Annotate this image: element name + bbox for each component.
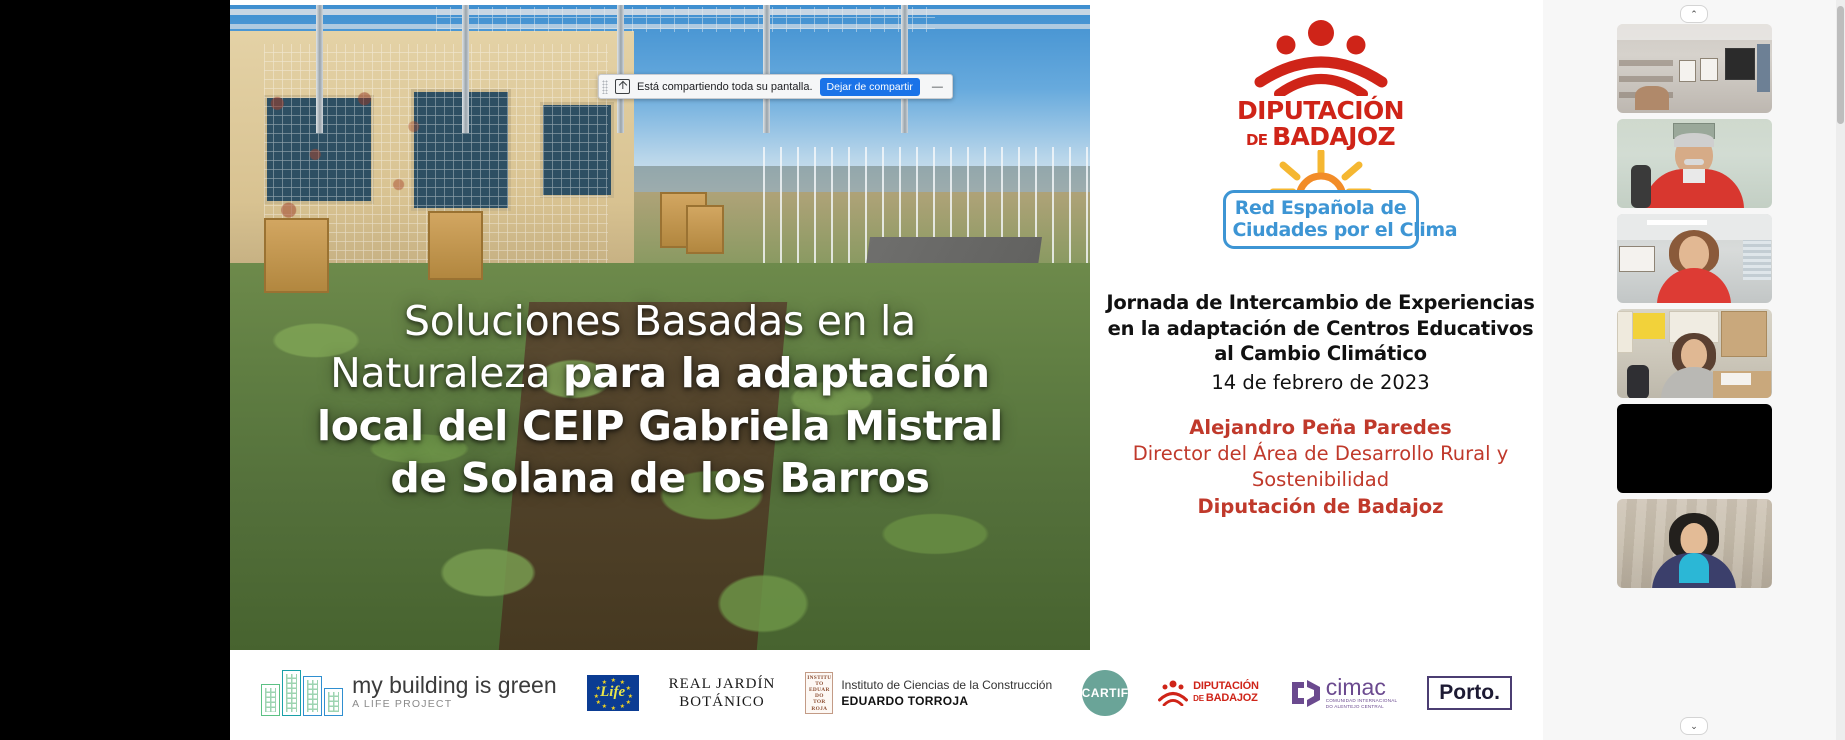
shelf-unit [1617,311,1633,353]
mbig-tagline: A LIFE PROJECT [352,697,557,711]
partial-person [1635,86,1669,110]
building-bar [261,684,280,716]
diputacion-logo-line-1: DIPUTACIÓN [1231,98,1411,123]
mbig-name: my building is green [352,674,557,697]
participant-tile[interactable] [1617,24,1772,113]
logo-cartif: CARTIF [1082,670,1128,716]
life-label: Life [600,684,625,701]
wall-frame [1679,60,1696,82]
diputacion-small-line-1: DIPUTACIÓN [1193,681,1259,692]
shared-screen-frame: Soluciones Basadas en la Naturaleza para… [80,0,1543,740]
rjb-line-1: REAL JARDÍN [669,675,776,693]
wall-frame [1700,58,1718,81]
wall-frame [1619,246,1655,272]
red-ciudades-box: Red Española de Ciudades por el Clima [1223,190,1419,249]
logo-real-jardin-botanico: REAL JARDÍN BOTÁNICO [669,675,776,711]
photo-post [462,5,469,133]
logo-life-eu: ★ ★ ★ ★ ★ ★ ★ ★ ★ ★ ★ ★ Life [587,675,639,711]
turtleneck [1679,553,1709,583]
red-ciudades-line-2: Ciudades por el Clima [1233,219,1409,241]
slide-title: Soluciones Basadas en la Naturaleza para… [252,295,1068,505]
event-heading-line-2: en la adaptación de Centros Educativos [1098,316,1543,342]
ceiling [1617,24,1772,40]
sharing-status-message: Está compartiendo toda su pantalla. [637,81,813,93]
participant-tile[interactable] [1617,119,1772,208]
cabinet [1721,311,1767,357]
slide-title-line-2-bold: para la adaptación [563,349,990,397]
speaker-role-line-2: Sostenibilidad [1098,467,1543,493]
photo-post [316,5,323,133]
chair [1627,365,1649,398]
event-date: 14 de febrero de 2023 [1098,369,1543,396]
wall-poster [1725,48,1755,80]
cimac-mark-icon [1289,678,1323,708]
diputacion-small-icon [1158,680,1188,706]
sidebar-scrollbar-track[interactable] [1836,0,1845,740]
meeting-screen-share-view: Soluciones Basadas en la Naturaleza para… [0,0,1845,740]
building-bar [303,676,322,716]
hair [1674,133,1714,147]
photo-crate [264,218,328,293]
minimize-toolbar-button[interactable]: — [927,81,948,93]
slide-title-line-3: local del CEIP Gabriela Mistral [252,400,1068,452]
papers [1721,373,1751,385]
shelf [1619,76,1673,82]
diputacion-small-text: DIPUTACIÓN DE BADAJOZ [1193,681,1259,705]
diputacion-badajoz-logo: DIPUTACIÓN DE BADAJOZ [1231,18,1411,154]
participant-tile-camera-off[interactable] [1617,404,1772,493]
collar [1683,169,1705,183]
torroja-line-1: Instituto de Ciencias de la Construcción [841,677,1052,693]
slide-footer-logos: my building is green A LIFE PROJECT ★ ★ … [230,655,1543,730]
participant-tile[interactable] [1617,214,1772,303]
diputacion-logo-de: DE [1246,131,1272,149]
building-bar [324,688,343,716]
building-bar [282,670,301,716]
slide-photo-green-roof: Soluciones Basadas en la Naturaleza para… [230,5,1090,650]
diputacion-small-de: DE [1193,694,1206,703]
diputacion-small-line-2: DE BADAJOZ [1193,692,1259,705]
shelf [1619,60,1673,66]
logo-cimac: cimac COMUNIDAD INTERNACIONAL DO ALENTEJ… [1289,676,1397,709]
slide-title-line-4: de Solana de los Barros [252,452,1068,504]
slide-title-line-2: Naturaleza para la adaptación [252,347,1068,399]
cimac-sub-1: COMUNIDAD INTERNACIONAL [1326,698,1397,703]
my-building-is-green-text: my building is green A LIFE PROJECT [352,674,557,711]
speaker-role-line-1: Director del Área de Desarrollo Rural y [1098,441,1543,467]
photo-crate [686,205,724,254]
diputacion-arcs-icon [1246,18,1396,96]
torroja-line-2: EDUARDO TORROJA [841,693,1052,709]
photo-crate [428,211,484,280]
slide-title-line-2-light: Naturaleza [330,349,563,397]
rjb-text: REAL JARDÍN BOTÁNICO [669,675,776,711]
slide-right-column: DIPUTACIÓN DE BADAJOZ [1098,0,1543,650]
participant-tile[interactable] [1617,499,1772,588]
logo-eduardo-torroja: INSTITUTOEDUARDOTORROJA Instituto de Cie… [805,672,1052,714]
shared-screen-stage: Soluciones Basadas en la Naturaleza para… [0,0,1543,740]
diputacion-small-arcs [1158,680,1188,706]
face [1679,236,1709,271]
torroja-mark-icon: INSTITUTOEDUARDOTORROJA [805,672,833,714]
window-blinds [1743,240,1771,280]
screen-share-icon [615,79,630,94]
photo-post [763,5,770,133]
red-ciudades-line-1: Red Española de [1233,197,1409,219]
event-heading: Jornada de Intercambio de Experiencias e… [1098,290,1543,396]
yellow-panel [1631,313,1665,339]
cimac-label: cimac [1326,676,1397,698]
cimac-text: cimac COMUNIDAD INTERNACIONAL DO ALENTEJ… [1326,676,1397,709]
eu-flag-icon: ★ ★ ★ ★ ★ ★ ★ ★ ★ ★ ★ ★ Life [587,675,639,711]
diputacion-small-badajoz: BADAJOZ [1206,692,1258,704]
event-heading-line-1: Jornada de Intercambio de Experiencias [1098,290,1543,316]
scroll-down-button[interactable]: ⌄ [1680,717,1708,735]
screen-share-toolbar[interactable]: Está compartiendo toda su pantalla. Deja… [598,74,953,99]
rjb-line-2: BOTÁNICO [669,693,776,711]
logo-porto: Porto. [1427,676,1512,710]
speaker-name: Alejandro Peña Paredes [1098,415,1543,441]
event-heading-line-3: al Cambio Climático [1098,341,1543,367]
cartif-badge: CARTIF [1082,670,1128,716]
face [1681,339,1707,370]
porto-label: Porto. [1427,676,1512,710]
drag-handle-icon[interactable] [602,80,608,94]
logo-diputacion-small: DIPUTACIÓN DE BADAJOZ [1158,680,1259,706]
torso-red-top [1657,268,1731,303]
participant-tile[interactable] [1617,309,1772,398]
cimac-sub-2: DO ALENTEJO CENTRAL [1326,704,1397,709]
participant-tiles [1543,24,1845,719]
slide-title-line-1: Soluciones Basadas en la [252,295,1068,347]
red-ciudades-clima-logo: Red Española de Ciudades por el Clima [1223,150,1419,249]
presentation-slide: Soluciones Basadas en la Naturaleza para… [230,0,1543,740]
shelf-books [1757,44,1770,92]
participants-sidebar: ⌃ [1543,0,1845,740]
logo-my-building-is-green: my building is green A LIFE PROJECT [261,670,557,716]
ceiling-light [1647,220,1707,225]
diputacion-logo-badajoz: BADAJOZ [1272,122,1395,151]
chair [1631,165,1651,208]
speaker-info: Alejandro Peña Paredes Director del Área… [1098,415,1543,520]
photo-post [901,5,908,133]
scroll-up-button[interactable]: ⌃ [1680,5,1708,23]
torroja-text: Instituto de Ciencias de la Construcción… [841,677,1052,709]
buildings-icon [261,670,343,716]
face [1681,523,1708,555]
photo-roof-grid [436,7,935,32]
moustache [1684,159,1704,165]
sidebar-scrollbar-thumb[interactable] [1837,6,1844,124]
cimac-squares [1289,678,1323,708]
stop-sharing-button[interactable]: Dejar de compartir [820,78,920,96]
photo-post [617,5,624,133]
speaker-organization: Diputación de Badajoz [1098,494,1543,520]
